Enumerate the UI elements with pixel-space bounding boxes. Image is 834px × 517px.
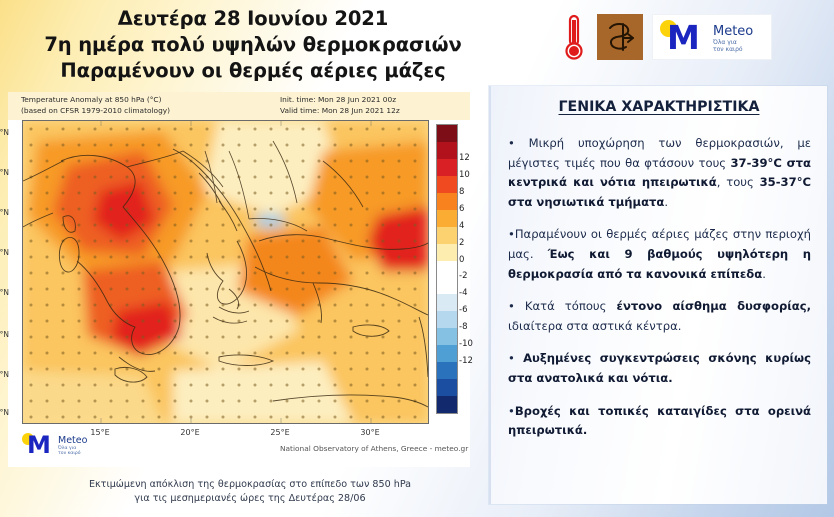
map-plot-area[interactable] — [22, 120, 427, 422]
meteo-wordmark: Meteo — [58, 435, 87, 446]
colorbar-swatch — [437, 396, 457, 413]
map-valid-time: Valid time: Mon 28 Jun 2021 12z — [280, 106, 400, 117]
meteo-monogram: M — [667, 22, 700, 53]
colorbar-tick-label: 0 — [459, 255, 464, 265]
map-init-time: Init. time: Mon 28 Jun 2021 00z — [280, 95, 400, 106]
colorbar-swatch — [437, 125, 457, 142]
map-panel: Temperature Anomaly at 850 hPa (°C) (bas… — [8, 92, 470, 467]
map-variable-label: Temperature Anomaly at 850 hPa (°C) — [21, 95, 170, 106]
colorbar-swatch — [437, 142, 457, 159]
colorbar-tick-label: -8 — [459, 322, 467, 332]
colorbar-swatch — [437, 210, 457, 227]
colorbar-swatch — [437, 244, 457, 261]
title-line-1: Δευτέρα 28 Ιουνίου 2021 — [28, 6, 478, 32]
caption-line-1: Εκτιμώμενη απόκλιση της θερμοκρασίας στο… — [40, 478, 460, 492]
map-header-right: Init. time: Mon 28 Jun 2021 00z Valid ti… — [280, 95, 400, 116]
bullet-list: • Μικρή υποχώρηση των θερμοκρασιών, με μ… — [508, 134, 811, 454]
colorbar-swatch — [437, 294, 457, 311]
lat-label: °N — [0, 330, 9, 339]
lat-label: °N — [0, 288, 9, 297]
colorbar-swatch — [437, 277, 457, 294]
list-item: • Μικρή υποχώρηση των θερμοκρασιών, με μ… — [508, 134, 811, 212]
header: Δευτέρα 28 Ιουνίου 2021 7η ημέρα πολύ υψ… — [0, 0, 834, 92]
meteo-wordmark: Meteo — [713, 24, 753, 39]
colorbar-tick-label: -6 — [459, 305, 467, 315]
colorbar-tick-label: -4 — [459, 288, 467, 298]
colorbar-tick-label: 8 — [459, 187, 464, 197]
colorbar-swatch — [437, 379, 457, 396]
map-caption: Εκτιμώμενη απόκλιση της θερμοκρασίας στο… — [40, 478, 460, 506]
infographic-root: Δευτέρα 28 Ιουνίου 2021 7η ημέρα πολύ υψ… — [0, 0, 834, 517]
map-header-left: Temperature Anomaly at 850 hPa (°C) (bas… — [21, 95, 170, 116]
temperature-anomaly-heatmap[interactable] — [22, 120, 429, 424]
lon-label: 20°E — [180, 428, 199, 437]
meteo-tagline-line2: τον καιρό — [713, 46, 743, 53]
colorbar-swatch — [437, 176, 457, 193]
lat-label: °N — [0, 248, 9, 257]
colorbar-tick-label: 6 — [459, 204, 464, 214]
national-observatory-logo — [597, 14, 643, 60]
list-item: • Κατά τόπους έντονο αίσθημα δυσφορίας, … — [508, 297, 811, 336]
colorbar-tick-label: 12 — [459, 153, 470, 163]
lat-label: °N — [0, 370, 9, 379]
meteo-tagline: Όλα για τον καιρό — [713, 39, 743, 53]
map-attribution: National Observatory of Athens, Greece -… — [280, 444, 468, 453]
lon-label: 30°E — [360, 428, 379, 437]
colorbar-tick-label: -10 — [459, 339, 473, 349]
colorbar-swatch — [437, 159, 457, 176]
lat-label: °N — [0, 208, 9, 217]
colorbar-tick-label: 4 — [459, 221, 464, 231]
colorbar-swatch — [437, 362, 457, 379]
caption-line-2: για τις μεσημεριανές ώρες της Δευτέρας 2… — [40, 492, 460, 506]
colorbar-swatch — [437, 345, 457, 362]
colorbar-tick-label: -2 — [459, 271, 467, 281]
title-line-3: Παραμένουν οι θερμές αέριες μάζες — [28, 58, 478, 84]
panel-title: ΓΕΝΙΚΑ ΧΑΡΑΚΤΗΡΙΣΤΙΚΑ — [491, 99, 827, 115]
colorbar-swatch — [437, 311, 457, 328]
title-line-2: 7η ημέρα πολύ υψηλών θερμοκρασιών — [28, 32, 478, 58]
colorbar-tick-label: -12 — [459, 356, 473, 366]
colorbar-swatch — [437, 328, 457, 345]
general-characteristics-panel: ΓΕΝΙΚΑ ΧΑΡΑΚΤΗΡΙΣΤΙΚΑ • Μικρή υποχώρηση … — [489, 86, 827, 504]
colorbar-swatch — [437, 193, 457, 210]
colorbar-swatch — [437, 261, 457, 278]
colorbar-tick-label: 10 — [459, 170, 470, 180]
lat-label: °N — [0, 128, 9, 137]
colorbar-swatch — [437, 227, 457, 244]
thermometer-icon — [560, 13, 588, 61]
colorbar — [436, 124, 458, 414]
map-header-bar: Temperature Anomaly at 850 hPa (°C) (bas… — [8, 92, 470, 120]
page-title: Δευτέρα 28 Ιουνίου 2021 7η ημέρα πολύ υψ… — [28, 6, 478, 84]
meteo-tagline: Όλα για τον καιρό — [58, 446, 81, 457]
list-item: •Παραμένουν οι θερμές αέριες μάζες στην … — [508, 225, 811, 284]
map-meteo-logo: M Meteo Όλα για τον καιρό — [20, 432, 116, 462]
colorbar-tick-label: 2 — [459, 238, 464, 248]
meteo-logo: M Meteo Όλα για τον καιρό — [652, 14, 772, 60]
colorbar-labels: 121086420-2-4-6-8-10-12 — [459, 124, 483, 412]
list-item: •Βροχές και τοπικές καταιγίδες στα ορειν… — [508, 402, 811, 441]
lat-label: °N — [0, 408, 9, 417]
map-climatology-label: (based on CFSR 1979-2010 climatology) — [21, 106, 170, 117]
meteo-monogram: M — [27, 434, 51, 457]
meteo-tagline-line2: τον καιρό — [58, 451, 81, 456]
logo-group: M Meteo Όλα για τον καιρό — [560, 13, 772, 61]
list-item: • Αυξημένες συγκεντρώσεις σκόνης κυρίως … — [508, 349, 811, 388]
meteo-tagline-line1: Όλα για — [713, 39, 743, 46]
lat-label: °N — [0, 168, 9, 177]
lon-label: 25°E — [270, 428, 289, 437]
latitude-axis: °N °N °N °N °N °N °N °N — [0, 120, 10, 422]
